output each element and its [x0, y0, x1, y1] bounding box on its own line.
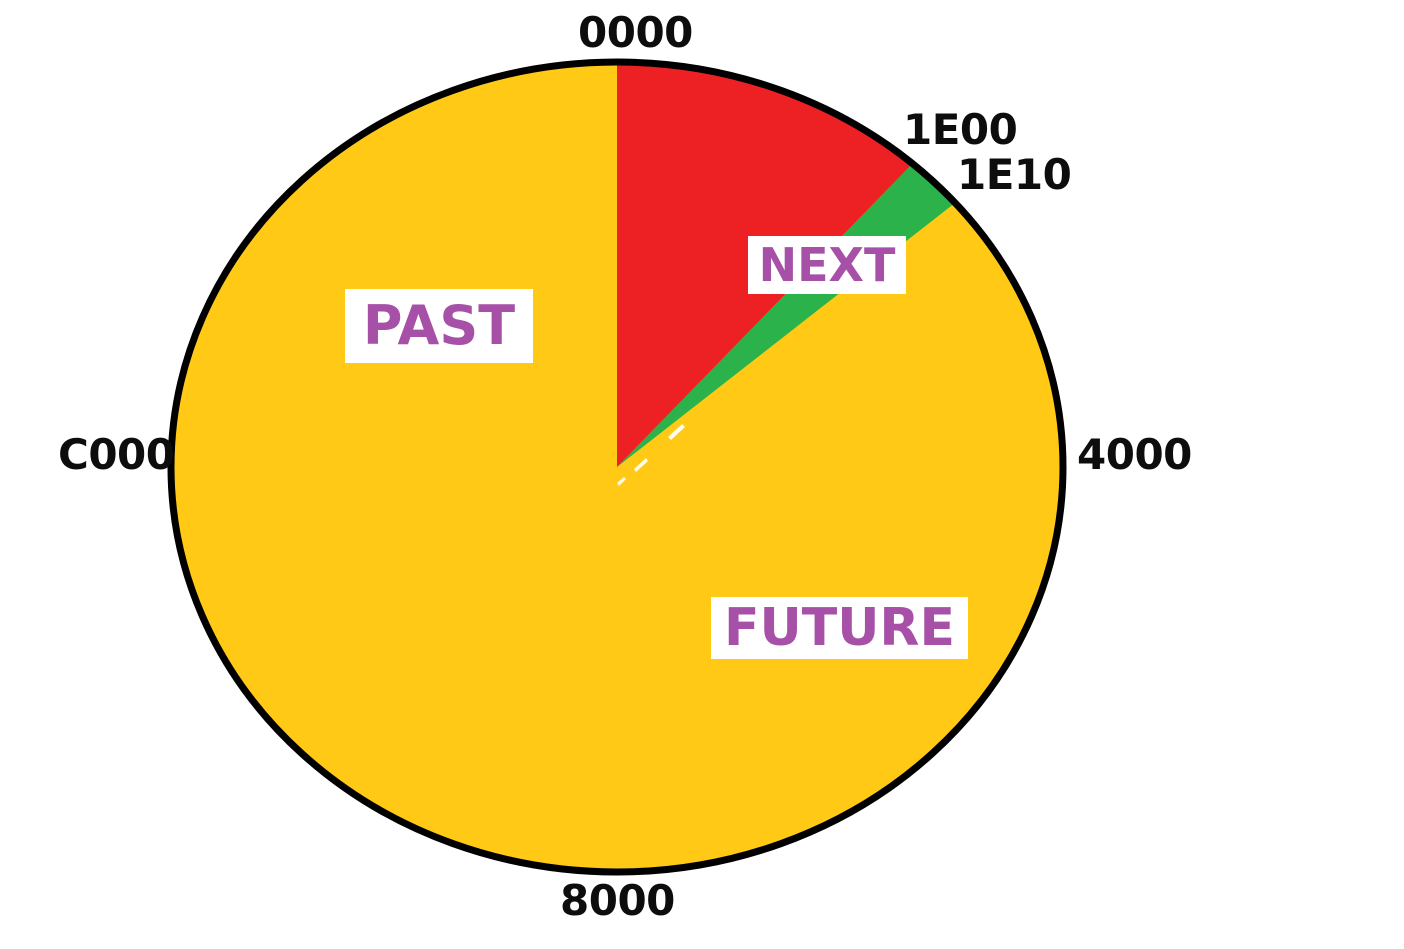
pie-chart — [0, 0, 1404, 949]
tick-label-1e00: 1E00 — [903, 105, 1017, 154]
sector-label-future: FUTURE — [711, 597, 968, 659]
sector-label-next: NEXT — [748, 236, 906, 294]
tick-label-0000: 0000 — [578, 8, 693, 57]
tick-label-c000: C000 — [58, 430, 175, 479]
tick-label-1e10: 1E10 — [957, 150, 1071, 199]
tick-label-8000: 8000 — [560, 876, 675, 925]
chart-canvas: 0000 1E00 1E10 4000 8000 C000 PAST NEXT … — [0, 0, 1404, 949]
tick-label-4000: 4000 — [1077, 430, 1192, 479]
sector-label-past: PAST — [345, 289, 533, 363]
